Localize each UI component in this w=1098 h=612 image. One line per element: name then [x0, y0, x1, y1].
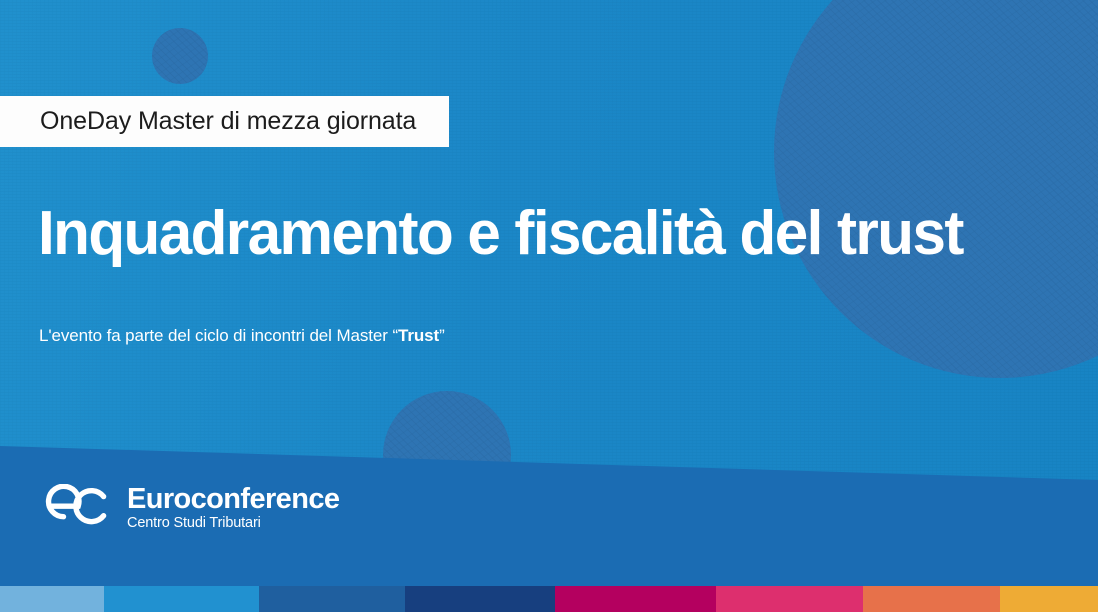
circle-texture	[152, 28, 208, 84]
euroconference-logo: Euroconference Centro Studi Tributari	[40, 484, 339, 533]
logo-wordmark: Euroconference Centro Studi Tributari	[127, 485, 339, 532]
color-strip-segment-light-blue	[0, 586, 104, 612]
color-strip-segment-orange	[863, 586, 1000, 612]
event-series-note-prefix: L'evento fa parte del ciclo di incontri …	[39, 326, 398, 345]
color-strip-segment-navy	[405, 586, 555, 612]
page-title: Inquadramento e fiscalità del trust	[38, 204, 989, 264]
color-strip-segment-steel-blue	[259, 586, 405, 612]
color-strip-segment-pink	[716, 586, 863, 612]
brand-color-strip	[0, 586, 1098, 612]
logo-name: Euroconference	[127, 485, 339, 515]
color-strip-segment-magenta	[555, 586, 716, 612]
decorative-circle-small	[152, 28, 208, 84]
color-strip-segment-yellow	[1000, 586, 1098, 612]
event-format-chip: OneDay Master di mezza giornata	[0, 96, 449, 147]
logo-tagline: Centro Studi Tributari	[127, 515, 339, 532]
event-series-note-suffix: ”	[439, 326, 445, 345]
event-series-name: Trust	[398, 326, 439, 345]
color-strip-segment-blue	[104, 586, 259, 612]
event-format-label: OneDay Master di mezza giornata	[40, 109, 416, 134]
ec-monogram-icon	[40, 484, 114, 533]
event-banner: OneDay Master di mezza giornata Inquadra…	[0, 0, 1098, 612]
event-series-note: L'evento fa parte del ciclo di incontri …	[39, 326, 445, 346]
